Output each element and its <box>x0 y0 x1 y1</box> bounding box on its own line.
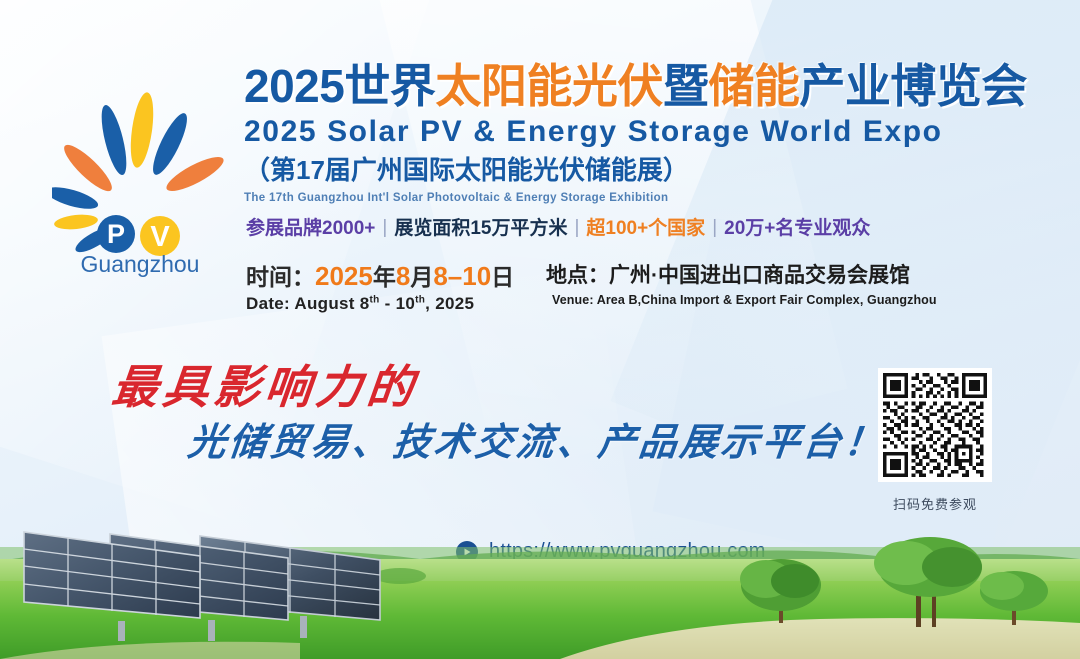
qr-block: 扫码免费参观 <box>878 368 992 513</box>
solar-panel-array-illustration <box>10 508 440 643</box>
date-en-sup1: th <box>370 294 380 305</box>
date-year: 2025 <box>315 261 373 291</box>
slogan-block: 最具影响力的 光储贸易、技术交流、产品展示平台！ <box>112 362 885 462</box>
slogan-line-2: 光储贸易、技术交流、产品展示平台！ <box>186 421 887 463</box>
pv-guangzhou-logo: P V Guangzhou <box>52 92 232 277</box>
venue-cn: 地点：广州·中国进出口商品交易会展馆 <box>546 264 937 288</box>
date-en-sup2: th <box>415 294 425 305</box>
title-cn-seg-1: 2025世界 <box>244 60 435 112</box>
date-year-unit: 年 <box>373 264 396 290</box>
stat-separator: | <box>567 217 586 238</box>
stat-separator: | <box>705 217 724 238</box>
date-cn: 时间：2025年8月8–10日 <box>246 262 514 292</box>
title-cn-seg-2: 太阳能光伏 <box>435 60 663 112</box>
date-day-range: 8–10 <box>433 261 491 291</box>
slogan-line-1: 最具影响力的 <box>109 362 420 413</box>
title-block: 2025世界太阳能光伏暨储能产业博览会 2025 Solar PV & Ener… <box>244 62 1044 206</box>
stat-separator: | <box>375 217 394 238</box>
date-label: 时间： <box>246 264 315 290</box>
qr-caption: 扫码免费参观 <box>878 494 992 513</box>
qr-code-image[interactable] <box>878 368 992 482</box>
venue-en: Venue: Area B,China Import & Export Fair… <box>552 293 937 309</box>
date-day-unit: 日 <box>491 264 514 290</box>
svg-text:V: V <box>150 221 170 253</box>
title-sub-cn: （第17届广州国际太阳能光伏储能展） <box>244 154 1044 188</box>
title-sub-en: The 17th Guangzhou Int'l Solar Photovolt… <box>244 191 1044 206</box>
title-main-en: 2025 Solar PV & Energy Storage World Exp… <box>244 113 1044 151</box>
date-en-head: Date: August 8 <box>246 294 370 313</box>
stats-row: 参展品牌2000+|展览面积15万平方米|超100+个国家|20万+名专业观众 <box>246 219 870 238</box>
logo-wordmark: Guangzhou <box>81 251 200 277</box>
expo-banner: P V Guangzhou 2025世界太阳能光伏暨储能产业博览会 2025 S… <box>0 0 1080 659</box>
date-block: 时间：2025年8月8–10日 Date: August 8th - 10th,… <box>246 262 514 314</box>
venue-block: 地点：广州·中国进出口商品交易会展馆 Venue: Area B,China I… <box>546 264 937 309</box>
stat-item-brands: 参展品牌2000+ <box>246 219 375 238</box>
title-cn-seg-4: 储能 <box>708 60 799 112</box>
date-en-mid: - 10 <box>380 294 416 313</box>
svg-text:P: P <box>107 219 125 249</box>
stat-item-countries: 超100+个国家 <box>586 219 705 238</box>
date-en-tail: , 2025 <box>425 294 474 313</box>
venue-name-cn: 广州·中国进出口商品交易会展馆 <box>609 264 910 287</box>
date-month: 8 <box>396 261 410 291</box>
stat-item-area: 展览面积15万平方米 <box>394 219 567 238</box>
title-cn-seg-5: 产业博览会 <box>799 60 1027 112</box>
title-main-cn: 2025世界太阳能光伏暨储能产业博览会 <box>244 62 1044 111</box>
venue-label: 地点： <box>546 264 609 287</box>
sunburst-logo-icon: P V Guangzhou <box>52 92 232 277</box>
date-month-unit: 月 <box>410 264 433 290</box>
date-en: Date: August 8th - 10th, 2025 <box>246 294 514 314</box>
title-cn-seg-3: 暨 <box>663 60 709 112</box>
stat-item-visitors: 20万+名专业观众 <box>724 219 870 238</box>
